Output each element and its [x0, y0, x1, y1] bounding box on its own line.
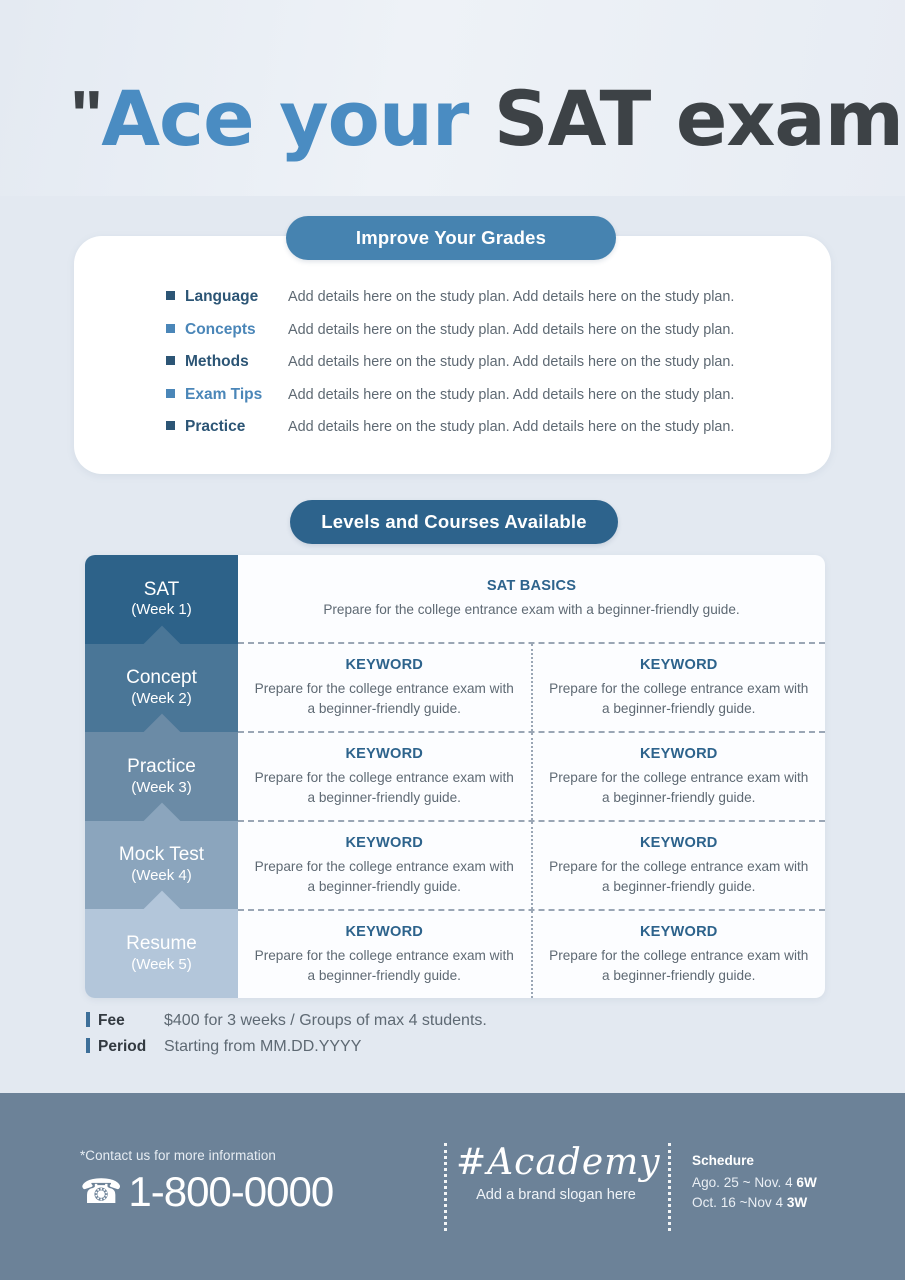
- course-keyword: KEYWORD: [345, 835, 423, 851]
- course-keyword: KEYWORD: [345, 924, 423, 940]
- study-plan-description: Add details here on the study plan. Add …: [288, 387, 734, 403]
- table-row: KEYWORD Prepare for the college entrance…: [238, 731, 825, 820]
- table-row: KEYWORD Prepare for the college entrance…: [238, 909, 825, 998]
- table-row: SAT BASICS Prepare for the college entra…: [238, 555, 825, 642]
- course-cell: SAT BASICS Prepare for the college entra…: [238, 555, 825, 642]
- course-description: Prepare for the college entrance exam wi…: [323, 600, 739, 620]
- course-keyword: KEYWORD: [640, 746, 718, 762]
- study-plan-description: Add details here on the study plan. Add …: [288, 419, 734, 435]
- table-row: KEYWORD Prepare for the college entrance…: [238, 820, 825, 909]
- title-rest: SAT exam!: [494, 74, 905, 163]
- course-description: Prepare for the college entrance exam wi…: [254, 946, 515, 985]
- course-description: Prepare for the college entrance exam wi…: [549, 679, 810, 718]
- study-plan-label: Methods: [185, 353, 280, 371]
- bullet-square-icon: [166, 389, 175, 398]
- course-description: Prepare for the college entrance exam wi…: [254, 857, 515, 896]
- accent-bar-icon: [86, 1038, 90, 1053]
- phone-line[interactable]: ☎ 1-800-0000: [80, 1171, 333, 1213]
- section-heading-improve-your-grades: Improve Your Grades: [286, 216, 616, 260]
- schedule-range: Oct. 16 ~Nov 4: [692, 1195, 787, 1210]
- fee-value: $400 for 3 weeks / Groups of max 4 stude…: [164, 1012, 487, 1030]
- level-week: (Week 1): [131, 600, 192, 620]
- footer: *Contact us for more information ☎ 1-800…: [0, 1093, 905, 1280]
- course-cell: KEYWORD Prepare for the college entrance…: [531, 644, 826, 731]
- bullet-square-icon: [166, 324, 175, 333]
- level-name: Practice: [127, 756, 196, 778]
- levels-column: SAT (Week 1) Concept (Week 2) Practice (…: [85, 555, 238, 998]
- level-name: Resume: [126, 933, 197, 955]
- courses-column: SAT BASICS Prepare for the college entra…: [238, 555, 825, 998]
- study-plan-label: Language: [185, 288, 280, 306]
- fee-period-block: Fee $400 for 3 weeks / Groups of max 4 s…: [86, 1010, 786, 1062]
- period-label: Period: [98, 1038, 164, 1056]
- fee-label: Fee: [98, 1012, 164, 1030]
- list-item: Concepts Add details here on the study p…: [166, 321, 734, 354]
- level-week: (Week 5): [131, 955, 192, 975]
- study-plan-list: Language Add details here on the study p…: [166, 288, 734, 451]
- accent-bar-icon: [86, 1012, 90, 1027]
- level-name: SAT: [144, 579, 180, 601]
- page-title: "Ace your SAT exam!": [70, 74, 905, 163]
- brand-name: #Academy: [456, 1143, 656, 1183]
- course-keyword: KEYWORD: [345, 746, 423, 762]
- level-name: Mock Test: [119, 844, 204, 866]
- bullet-square-icon: [166, 356, 175, 365]
- course-keyword: KEYWORD: [640, 835, 718, 851]
- phone-number[interactable]: 1-800-0000: [128, 1171, 333, 1213]
- course-description: Prepare for the college entrance exam wi…: [254, 679, 515, 718]
- schedule-block: Schedure Ago. 25 ~ Nov. 4 6W Oct. 16 ~No…: [692, 1153, 817, 1214]
- study-plan-card: Language Add details here on the study p…: [74, 236, 831, 474]
- section-heading-levels-and-courses: Levels and Courses Available: [290, 500, 618, 544]
- course-cell: KEYWORD Prepare for the college entrance…: [238, 822, 531, 909]
- level-week: (Week 4): [131, 866, 192, 886]
- level-name: Concept: [126, 667, 197, 689]
- schedule-title: Schedure: [692, 1153, 817, 1168]
- title-highlight: Ace your: [101, 74, 468, 163]
- level-week: (Week 3): [131, 778, 192, 798]
- course-cell: KEYWORD Prepare for the college entrance…: [531, 911, 826, 998]
- schedule-range: Ago. 25 ~ Nov. 4: [692, 1175, 796, 1190]
- schedule-weeks: 3W: [787, 1195, 807, 1210]
- contact-note: *Contact us for more information: [80, 1148, 333, 1163]
- list-item: Practice Add details here on the study p…: [166, 418, 734, 451]
- schedule-line: Oct. 16 ~Nov 4 3W: [692, 1193, 817, 1213]
- course-cell: KEYWORD Prepare for the college entrance…: [238, 644, 531, 731]
- bullet-square-icon: [166, 421, 175, 430]
- list-item: Language Add details here on the study p…: [166, 288, 734, 321]
- table-row: KEYWORD Prepare for the college entrance…: [238, 642, 825, 731]
- study-plan-description: Add details here on the study plan. Add …: [288, 289, 734, 305]
- course-keyword: KEYWORD: [345, 657, 423, 673]
- footer-divider-right: [668, 1143, 674, 1231]
- course-description: Prepare for the college entrance exam wi…: [254, 768, 515, 807]
- levels-table: SAT (Week 1) Concept (Week 2) Practice (…: [85, 555, 825, 998]
- level-week: (Week 2): [131, 689, 192, 709]
- fee-row: Fee $400 for 3 weeks / Groups of max 4 s…: [86, 1010, 786, 1036]
- telephone-icon: ☎: [80, 1175, 122, 1209]
- period-value: Starting from MM.DD.YYYY: [164, 1038, 361, 1056]
- open-quote: ": [70, 76, 101, 154]
- bullet-square-icon: [166, 291, 175, 300]
- study-plan-description: Add details here on the study plan. Add …: [288, 354, 734, 370]
- course-description: Prepare for the college entrance exam wi…: [549, 768, 810, 807]
- schedule-line: Ago. 25 ~ Nov. 4 6W: [692, 1173, 817, 1193]
- schedule-weeks: 6W: [796, 1175, 816, 1190]
- course-cell: KEYWORD Prepare for the college entrance…: [238, 911, 531, 998]
- brand-block: #Academy Add a brand slogan here: [456, 1143, 656, 1203]
- list-item: Methods Add details here on the study pl…: [166, 353, 734, 386]
- study-plan-label: Concepts: [185, 321, 280, 339]
- course-description: Prepare for the college entrance exam wi…: [549, 946, 810, 985]
- course-keyword: KEYWORD: [640, 924, 718, 940]
- course-cell: KEYWORD Prepare for the college entrance…: [531, 822, 826, 909]
- study-plan-label: Practice: [185, 418, 280, 436]
- course-cell: KEYWORD Prepare for the college entrance…: [238, 733, 531, 820]
- course-keyword: KEYWORD: [640, 657, 718, 673]
- level-segment-resume: Resume (Week 5): [85, 909, 238, 998]
- brand-slogan: Add a brand slogan here: [456, 1187, 656, 1203]
- list-item: Exam Tips Add details here on the study …: [166, 386, 734, 419]
- course-cell: KEYWORD Prepare for the college entrance…: [531, 733, 826, 820]
- course-keyword: SAT BASICS: [487, 578, 576, 594]
- course-description: Prepare for the college entrance exam wi…: [549, 857, 810, 896]
- study-plan-description: Add details here on the study plan. Add …: [288, 322, 734, 338]
- header-banner: "Ace your SAT exam!": [0, 0, 905, 196]
- period-row: Period Starting from MM.DD.YYYY: [86, 1036, 786, 1062]
- contact-block: *Contact us for more information ☎ 1-800…: [80, 1148, 333, 1213]
- footer-divider-left: [444, 1143, 450, 1231]
- study-plan-label: Exam Tips: [185, 386, 280, 404]
